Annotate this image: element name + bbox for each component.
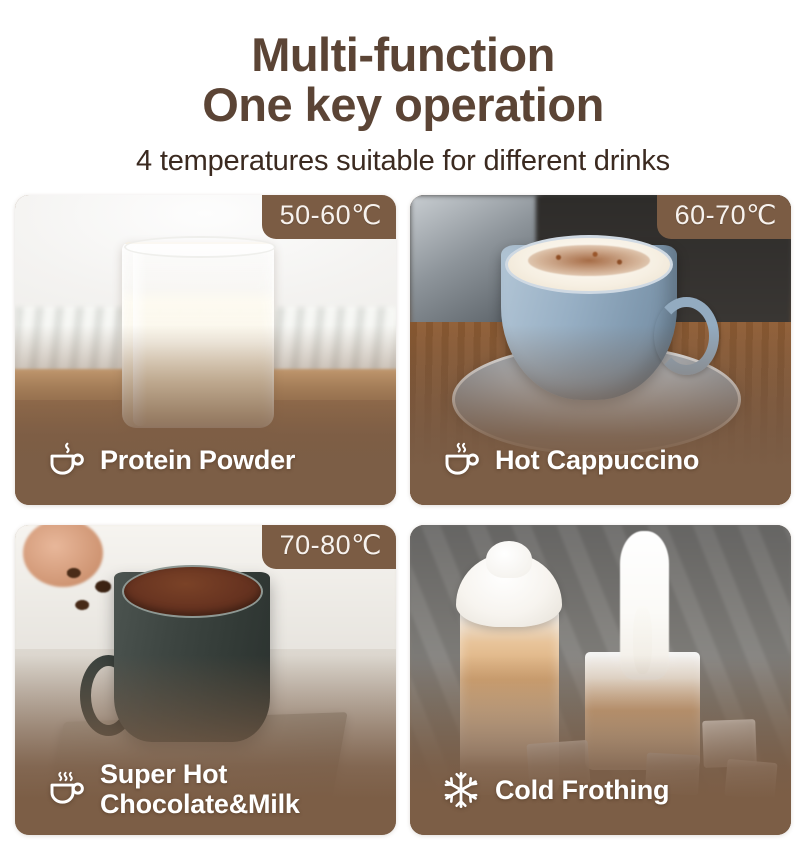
card-caption: Hot Cappuccino [440, 439, 699, 481]
photo-cream-swirl-decor [486, 541, 532, 578]
page-title-line-1: Multi-function [0, 30, 806, 80]
temperature-badge: 70-80℃ [262, 525, 396, 569]
card-caption: Super Hot Chocolate&Milk [45, 759, 300, 819]
card-label: Protein Powder [100, 445, 295, 475]
coffee-cup-1-steam-icon [45, 439, 87, 481]
coffee-cup-3-steam-icon [45, 768, 87, 810]
promo-page: Multi-function One key operation 4 tempe… [0, 0, 806, 850]
photo-cocoa-dusting-decor [528, 245, 650, 276]
drink-card-cold-frothing[interactable]: Cold Frothing [410, 525, 791, 835]
snowflake-icon [440, 769, 482, 811]
card-caption: Cold Frothing [440, 769, 669, 811]
card-label: Super Hot Chocolate&Milk [100, 759, 300, 819]
drink-card-protein-powder[interactable]: 50-60℃ Protein Powder [15, 195, 396, 505]
coffee-cup-2-steam-icon [440, 439, 482, 481]
card-label: Hot Cappuccino [495, 445, 699, 475]
drink-card-super-hot-chocolate-milk[interactable]: 70-80℃ Super Hot Chocolate&Milk [15, 525, 396, 835]
header: Multi-function One key operation 4 tempe… [0, 0, 806, 178]
temperature-badge: 50-60℃ [262, 195, 396, 239]
card-label: Cold Frothing [495, 775, 669, 805]
photo-chocolate-surface-decor [122, 565, 263, 618]
card-caption: Protein Powder [45, 439, 295, 481]
page-title-line-2: One key operation [0, 80, 806, 130]
page-subtitle: 4 temperatures suitable for different dr… [0, 145, 806, 178]
drink-mode-grid: 50-60℃ Protein Powder [15, 195, 791, 835]
drink-card-hot-cappuccino[interactable]: 60-70℃ Hot Cappuccino [410, 195, 791, 505]
temperature-badge: 60-70℃ [657, 195, 791, 239]
